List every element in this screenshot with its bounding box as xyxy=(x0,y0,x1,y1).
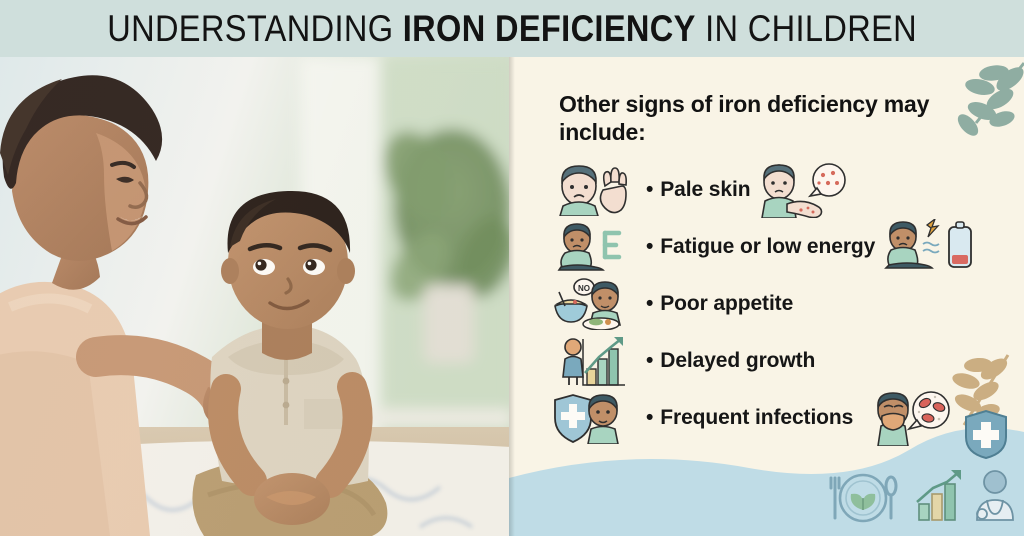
list-item: •Delayed growth xyxy=(509,332,1024,389)
list-item: •Fatigue or low energy xyxy=(509,218,1024,275)
page-title-part1: UNDERSTANDING xyxy=(107,8,403,49)
header-banner: UNDERSTANDING IRON DEFICIENCY IN CHILDRE… xyxy=(0,0,1024,57)
svg-text:NO: NO xyxy=(578,284,590,293)
tired-child-letter-e-icon xyxy=(551,221,629,273)
bullet-marker: • xyxy=(646,235,653,259)
page-title-emphasis: IRON DEFICIENCY xyxy=(403,8,696,49)
growth-bar-chart-arrow-icon xyxy=(917,470,961,520)
bullet-marker: • xyxy=(646,349,653,373)
signs-list: •Pale skin xyxy=(509,161,1024,446)
page-title: UNDERSTANDING IRON DEFICIENCY IN CHILDRE… xyxy=(107,8,917,50)
signs-panel: Other signs of iron deficiency may inclu… xyxy=(509,57,1024,536)
panel-heading: Other signs of iron deficiency may inclu… xyxy=(559,90,959,146)
child-pointing-to-spotted-skin-icon xyxy=(757,162,853,218)
child-growth-chart-icon xyxy=(551,335,629,387)
page-title-part2: IN CHILDREN xyxy=(696,8,917,49)
list-item-label: •Pale skin xyxy=(646,178,750,202)
bullet-marker: • xyxy=(646,178,653,202)
list-item: NO •Poor appetite xyxy=(509,275,1024,332)
doctor-stethoscope-icon xyxy=(977,471,1013,520)
shield-cross-icon xyxy=(963,409,1009,459)
bottom-icon-strip xyxy=(827,466,1022,528)
bullet-marker: • xyxy=(646,292,653,316)
infographic-root: UNDERSTANDING IRON DEFICIENCY IN CHILDRE… xyxy=(0,0,1024,536)
hero-photo-illustration xyxy=(0,57,512,536)
list-item-label: •Delayed growth xyxy=(646,349,815,373)
bowl-no-sign-child-refusing-food-icon: NO xyxy=(551,278,629,330)
pale-child-raised-hand-icon xyxy=(551,164,629,216)
slumped-child-low-battery-icon xyxy=(883,219,979,275)
healthy-plate-fork-spoon-icon xyxy=(831,475,896,521)
hero-photo xyxy=(0,57,512,536)
list-item-label: •Fatigue or low energy xyxy=(646,235,875,259)
list-item: •Pale skin xyxy=(509,161,1024,218)
list-item-label: •Poor appetite xyxy=(646,292,793,316)
